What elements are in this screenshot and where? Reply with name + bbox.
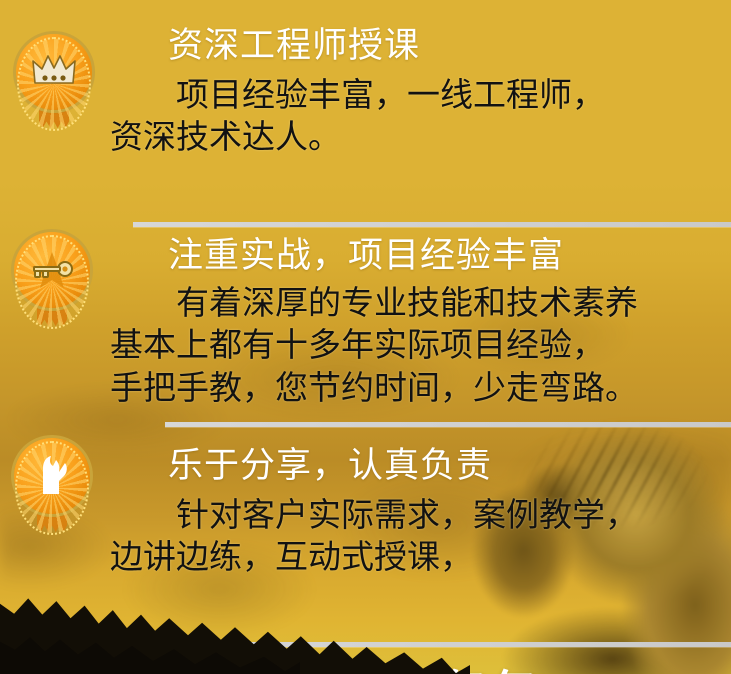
badge-medal-3 — [10, 436, 94, 540]
feature-body-2: 有着深厚的专业技能和技术素养 基本上都有十多年实际项目经验， 手把手教，您节约时… — [110, 282, 638, 409]
feature-title-2: 注重实战，项目经验丰富 — [168, 236, 638, 276]
hand-gesture-icon — [10, 436, 94, 512]
promo-poster: 资深工程师授课 项目经验丰富，一线工程师， 资深技术达人。 — [0, 0, 731, 674]
badge-medal-1 — [12, 32, 96, 136]
crown-icon — [12, 32, 96, 108]
feature-section-3: 乐于分享，认真负责 针对客户实际需求，案例教学， 边讲边练，互动式授课， — [0, 422, 731, 634]
feature-content-2: 注重实战，项目经验丰富 有着深厚的专业技能和技术素养 基本上都有十多年实际项目经… — [126, 236, 638, 409]
section-divider-1 — [133, 222, 731, 227]
feature-section-2: 注重实战，项目经验丰富 有着深厚的专业技能和技术素养 基本上都有十多年实际项目经… — [0, 222, 731, 422]
feature-title-3: 乐于分享，认真负责 — [168, 446, 638, 486]
badge-medal-2 — [10, 230, 94, 334]
feature-title-1: 资深工程师授课 — [168, 26, 605, 66]
section-divider-2 — [165, 422, 731, 427]
feature-content-3: 乐于分享，认真负责 针对客户实际需求，案例教学， 边讲边练，互动式授课， — [126, 446, 638, 579]
feature-content-1: 资深工程师授课 项目经验丰富，一线工程师， 资深技术达人。 — [126, 26, 605, 159]
feature-body-1: 项目经验丰富，一线工程师， 资深技术达人。 — [110, 74, 605, 158]
key-star-icon — [10, 230, 94, 306]
feature-section-1: 资深工程师授课 项目经验丰富，一线工程师， 资深技术达人。 — [0, 0, 731, 222]
feature-body-3: 针对客户实际需求，案例教学， 边讲边练，互动式授课， — [110, 494, 638, 578]
